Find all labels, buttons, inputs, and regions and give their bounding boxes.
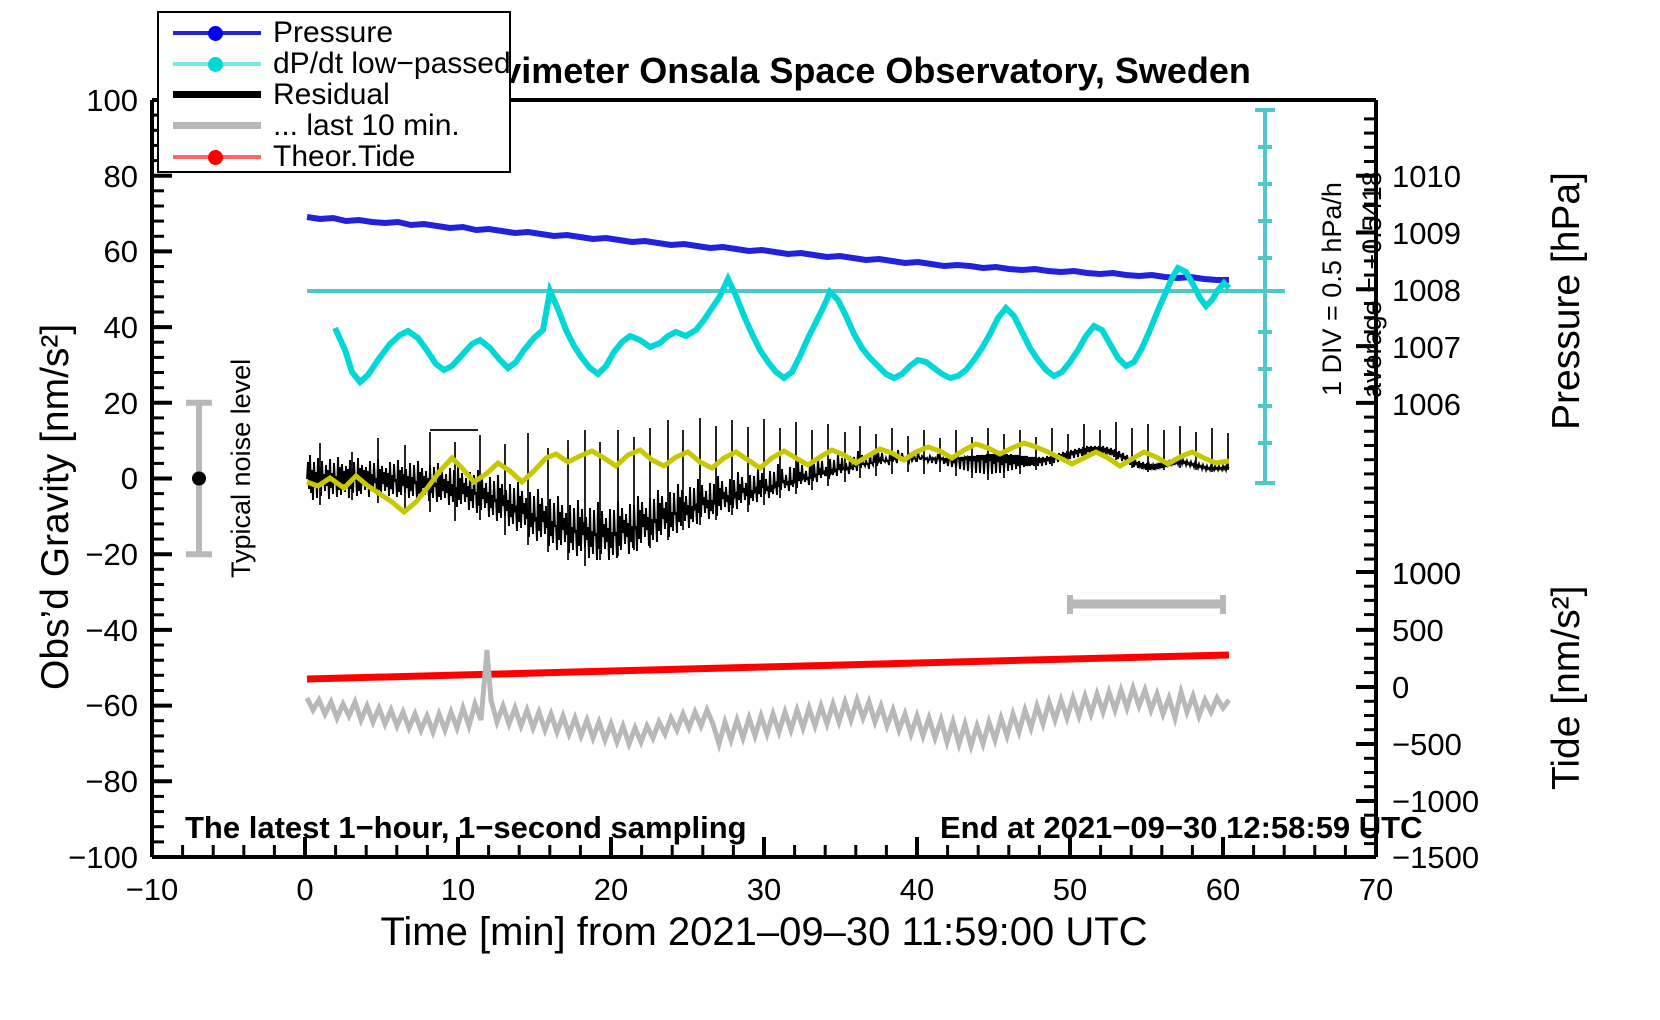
pressure-series [307,217,1229,280]
y-left-major-ticks [152,100,172,857]
legend-item-pressure[interactable]: Pressure [159,17,393,49]
x-tick-label: 60 [1163,872,1283,908]
legend-item-residual[interactable]: Residual [159,79,390,111]
y-right-tide-tick-label: −500 [1392,727,1462,763]
y-right-tide-tick-label: 0 [1392,670,1409,706]
y-right-pressure-tick-label: 1009 [1392,216,1461,252]
div-scale-annotation: 1 DIV = 0.5 hPa/h [1317,182,1348,396]
last10min-range-bar [1070,595,1223,614]
legend-item-tide[interactable]: Theor.Tide [159,141,415,173]
y-left-tick-label: −80 [10,764,138,800]
y-right-tide-tick-label: 500 [1392,613,1444,649]
y-left-tick-label: −60 [10,688,138,724]
legend-swatch-residual [173,79,261,111]
y-right-pressure-tick-label: 1006 [1392,387,1461,423]
dpdt-series [335,268,1229,382]
footer-right-note: End at 2021−09−30 12:58:59 UTC [940,810,1423,846]
footer-left-note: The latest 1−hour, 1−second sampling [185,810,747,846]
y-right-pressure-tick-label: 1007 [1392,330,1461,366]
tide-series [307,655,1229,679]
legend-swatch-pressure [173,17,261,49]
x-tick-label: 40 [857,872,977,908]
noise-level-bar [186,403,212,554]
plot-page: SCG_054 gravimeter Onsala Space Observat… [0,0,1660,1020]
y-right-pressure-tick-label: 1008 [1392,273,1461,309]
x-tick-label: 50 [1010,872,1130,908]
y-left-tick-label: 80 [10,159,138,195]
x-tick-label: 20 [551,872,671,908]
x-tick-label: −10 [92,872,212,908]
legend-swatch-dpdt [173,48,261,80]
x-tick-label: 30 [704,872,824,908]
x-tick-label: 70 [1316,872,1436,908]
legend-swatch-last10 [173,110,261,142]
dpdt-reference-axis [1255,110,1275,483]
x-axis-label: Time [min] from 2021–09–30 11:59:00 UTC [152,910,1376,955]
y-left-tick-label: −100 [10,840,138,876]
legend-label-last10: ... last 10 min. [273,109,460,143]
y-axis-label-pressure: Pressure [hPa] [1545,172,1589,430]
x-tick-label: 10 [398,872,518,908]
y-left-tick-label: 100 [10,83,138,119]
y-axis-label-left: Obs’d Gravity [nm/s²] [34,324,78,690]
y-left-tick-label: 60 [10,234,138,270]
legend-label-residual: Residual [273,78,390,112]
legend-item-last10[interactable]: ... last 10 min. [159,110,460,142]
legend-swatch-tide [173,141,261,173]
legend-label-dpdt: dP/dt low−passed [273,47,511,81]
average-annotation: average = −0.5418 [1357,171,1388,398]
legend-label-tide: Theor.Tide [273,140,415,174]
x-tick-label: 0 [245,872,365,908]
y-axis-label-tide: Tide [nm/s²] [1545,586,1589,790]
noise-level-annotation: Typical noise level [226,359,257,578]
legend-label-pressure: Pressure [273,16,393,50]
y-right-pressure-tick-label: 1010 [1392,159,1461,195]
legend: Pressure dP/dt low−passed Residual ... l… [157,11,511,173]
legend-item-dpdt[interactable]: dP/dt low−passed [159,48,511,80]
y-right-tide-tick-label: 1000 [1392,556,1461,592]
